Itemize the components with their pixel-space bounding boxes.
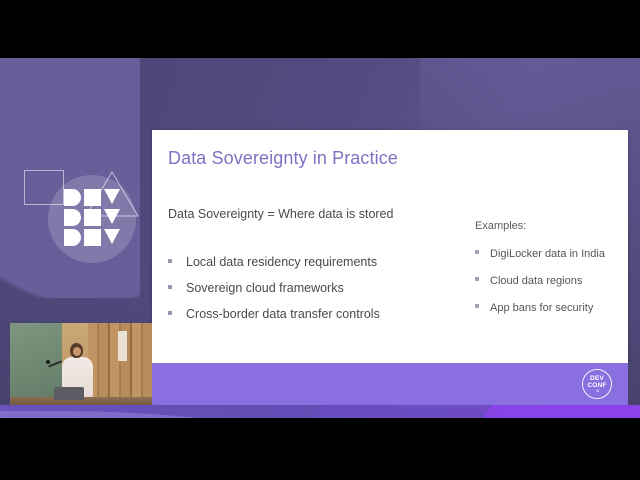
bullet-square-icon <box>168 259 172 263</box>
devconf-pattern-logo <box>18 162 152 274</box>
screen-capture: Data Sovereignty in Practice Data Sovere… <box>0 0 640 480</box>
glyph-d <box>64 229 81 246</box>
list-item: Local data residency requirements <box>168 256 468 270</box>
bullet-text: Sovereign cloud frameworks <box>186 282 344 296</box>
glyph-square <box>84 209 101 226</box>
video-frame: Data Sovereignty in Practice Data Sovere… <box>0 58 640 418</box>
list-item: Sovereign cloud frameworks <box>168 282 468 296</box>
wall-switch-panel <box>118 331 127 361</box>
devconf-circle-badge: DEV CONF .IN <box>582 369 612 399</box>
badge-line-2: CONF <box>587 382 606 389</box>
slide-footer-band: DEV CONF .IN <box>152 363 628 405</box>
slide-subtitle: Data Sovereignty = Where data is stored <box>168 207 393 221</box>
microphone-icon <box>46 360 50 364</box>
conference-banner: DEV NF .IN open source community confere… <box>0 405 640 418</box>
laptop <box>54 387 84 400</box>
example-text: Cloud data regions <box>490 275 582 287</box>
glyph-triangle <box>104 209 120 224</box>
speaker-video-inset <box>10 323 152 406</box>
bullet-square-icon <box>168 311 172 315</box>
list-item: DigiLocker data in India <box>475 248 625 260</box>
example-text: DigiLocker data in India <box>490 248 605 260</box>
dev-glyph-grid <box>64 189 121 246</box>
examples-column: Examples: DigiLocker data in India Cloud… <box>475 220 625 329</box>
speaker-face <box>73 347 81 356</box>
bullet-text: Cross-border data transfer controls <box>186 308 380 322</box>
letterbox-bottom <box>0 418 640 480</box>
list-item: Cloud data regions <box>475 275 625 287</box>
glyph-d <box>64 209 81 226</box>
list-item: Cross-border data transfer controls <box>168 308 468 322</box>
example-text: App bans for security <box>490 302 593 314</box>
glyph-triangle <box>104 229 120 244</box>
badge-line-1: DEV <box>590 375 604 382</box>
glyph-d <box>64 189 81 206</box>
examples-heading: Examples: <box>475 220 625 232</box>
bullet-square-icon <box>168 285 172 289</box>
glyph-square <box>84 229 101 246</box>
bullet-text: Local data residency requirements <box>186 256 377 270</box>
glyph-triangle <box>104 189 120 204</box>
bullet-square-icon <box>475 250 479 254</box>
bullet-square-icon <box>475 304 479 308</box>
letterbox-top <box>0 0 640 58</box>
slide-bullet-list: Local data residency requirements Sovere… <box>168 256 468 333</box>
bullet-square-icon <box>475 277 479 281</box>
slide-title: Data Sovereignty in Practice <box>168 148 398 169</box>
badge-line-3: .IN <box>595 389 600 394</box>
glyph-square <box>84 189 101 206</box>
presentation-slide: Data Sovereignty in Practice Data Sovere… <box>152 130 628 363</box>
list-item: App bans for security <box>475 302 625 314</box>
